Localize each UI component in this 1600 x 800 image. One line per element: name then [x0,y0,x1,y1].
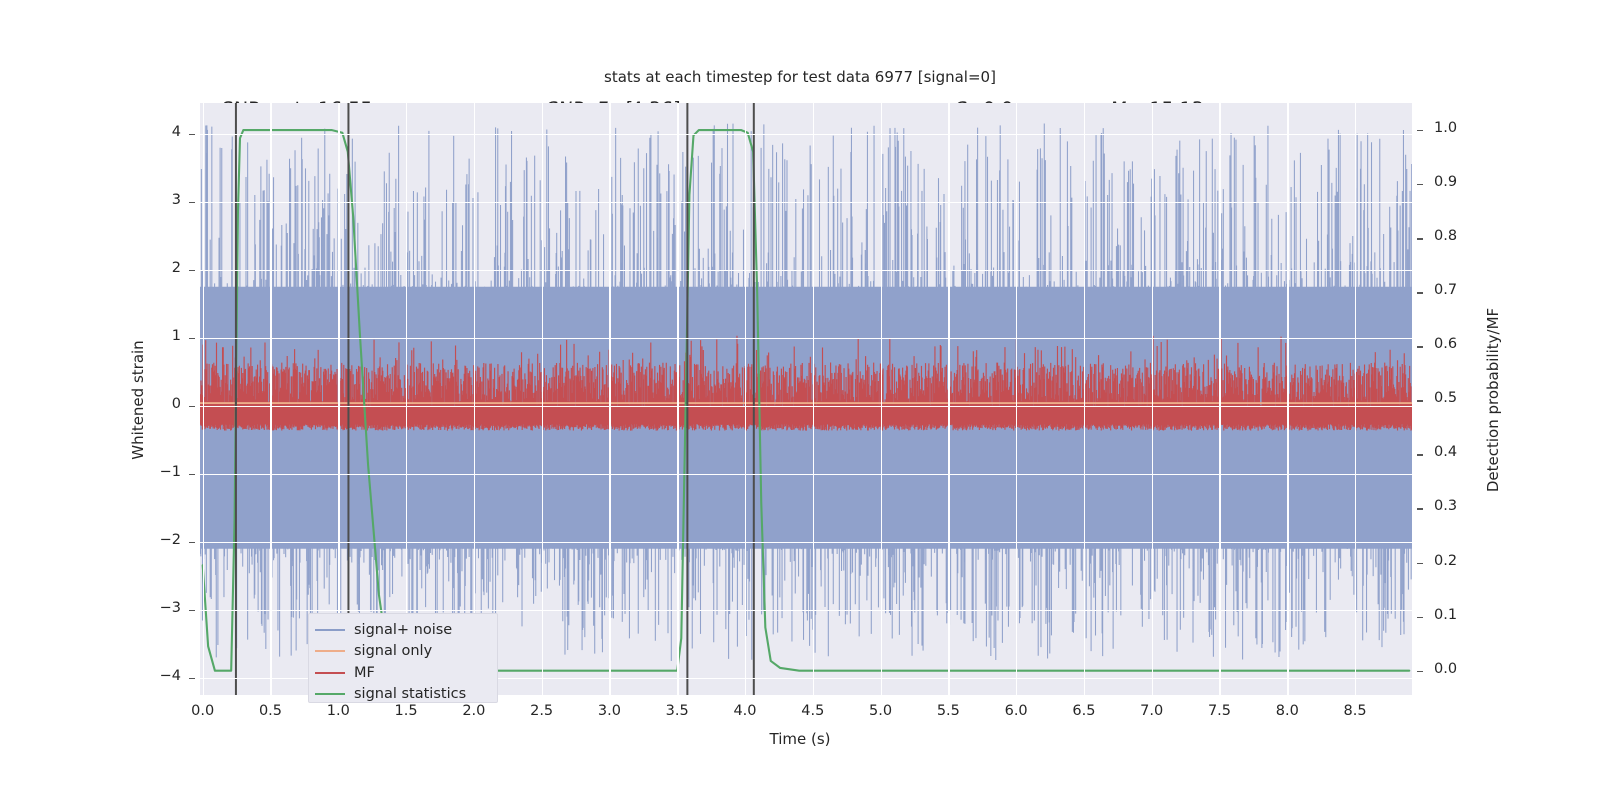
y-axis-left-tick-mark [189,270,195,271]
grid-line-vertical [203,103,204,695]
legend-swatch-2 [315,672,345,674]
x-axis-tick-label: 7.0 [1133,703,1171,719]
grid-line-vertical [1355,103,1356,695]
y-axis-right-tick-label: 0.2 [1434,553,1457,569]
y-axis-right-tick-mark [1417,130,1423,131]
y-axis-right-tick-label: 0.4 [1434,444,1457,460]
figure: stats at each timestep for test data 697… [0,0,1600,800]
y-axis-left-tick-label: −3 [155,600,181,616]
x-axis-tick-label: 2.0 [455,703,493,719]
grid-line-horizontal [200,134,1412,135]
y-axis-right-tick-label: 0.8 [1434,228,1457,244]
y-axis-left-tick-label: −4 [155,668,181,684]
y-axis-left-tick-label: −2 [155,532,181,548]
y-axis-right-tick-label: 0.3 [1434,498,1457,514]
grid-line-vertical [1016,103,1017,695]
grid-line-vertical [542,103,543,695]
grid-line-vertical [609,103,610,695]
grid-line-horizontal [200,202,1412,203]
y-axis-left-tick-label: 0 [155,396,181,412]
grid-line-vertical [406,103,407,695]
y-axis-right-tick-mark [1417,292,1423,293]
x-axis-tick-label: 8.0 [1268,703,1306,719]
x-axis-tick-label: 1.0 [319,703,357,719]
y-axis-left-tick-mark [189,134,195,135]
legend-swatch-1 [315,650,345,652]
x-axis-tick-label: 2.5 [523,703,561,719]
legend-item[interactable]: signal statistics [315,684,489,706]
plot-canvas [200,103,1412,695]
y-axis-right-tick-mark [1417,508,1423,509]
x-axis-tick-label: 5.0 [862,703,900,719]
legend-swatch-0 [315,629,345,631]
y-axis-left-tick-label: 4 [155,124,181,140]
x-axis-tick-label: 4.0 [726,703,764,719]
y-axis-right-tick-mark [1417,346,1423,347]
y-axis-right-label: Detection probability/MF [1484,308,1502,492]
y-axis-right-tick-mark [1417,400,1423,401]
legend-label: signal only [354,643,432,659]
grid-line-horizontal [200,270,1412,271]
grid-line-vertical [1084,103,1085,695]
grid-line-vertical [813,103,814,695]
y-axis-left-tick-label: 3 [155,192,181,208]
x-axis-tick-label: 8.5 [1336,703,1374,719]
x-axis-tick-label: 4.5 [794,703,832,719]
grid-line-vertical [677,103,678,695]
x-axis-tick-label: 6.5 [1065,703,1103,719]
x-axis-tick-label: 0.5 [251,703,289,719]
legend[interactable]: signal+ noisesignal onlyMFsignal statist… [308,613,498,703]
grid-line-horizontal [200,338,1412,339]
x-axis-tick-label: 7.5 [1200,703,1238,719]
y-axis-right-tick-mark [1417,184,1423,185]
legend-swatch-3 [315,693,345,695]
x-axis-tick-label: 5.5 [929,703,967,719]
grid-line-vertical [1287,103,1288,695]
y-axis-left-tick-mark [189,338,195,339]
grid-line-vertical [474,103,475,695]
y-axis-right-tick-mark [1417,563,1423,564]
y-axis-left-tick-mark [189,542,195,543]
y-axis-left-label: Whitened strain [129,340,147,459]
y-axis-right-tick-label: 0.6 [1434,336,1457,352]
y-axis-left-tick-mark [189,406,195,407]
y-axis-right-tick-label: 1.0 [1434,120,1457,136]
x-axis-tick-label: 3.5 [658,703,696,719]
y-axis-left-tick-mark [189,474,195,475]
grid-line-vertical [1152,103,1153,695]
y-axis-right-tick-label: 0.5 [1434,390,1457,406]
x-axis-tick-label: 1.5 [387,703,425,719]
grid-line-vertical [881,103,882,695]
y-axis-left-tick-label: 2 [155,260,181,276]
y-axis-right-tick-label: 0.0 [1434,661,1457,677]
y-axis-left-tick-mark [189,202,195,203]
y-axis-right-tick-label: 0.7 [1434,282,1457,298]
legend-label: MF [354,665,375,681]
grid-line-horizontal [200,542,1412,543]
legend-item[interactable]: signal+ noise [315,619,489,641]
x-axis-tick-label: 3.0 [590,703,628,719]
x-axis-tick-label: 0.0 [184,703,222,719]
x-axis-tick-label: 6.0 [997,703,1035,719]
plot-area [200,103,1412,695]
y-axis-right-tick-mark [1417,454,1423,455]
y-axis-right-tick-label: 0.9 [1434,174,1457,190]
grid-line-vertical [1219,103,1220,695]
y-axis-right-tick-label: 0.1 [1434,607,1457,623]
chart-title: stats at each timestep for test data 697… [0,68,1600,86]
legend-item[interactable]: signal only [315,641,489,663]
y-axis-left-tick-mark [189,610,195,611]
y-axis-left-tick-mark [189,678,195,679]
grid-line-vertical [338,103,339,695]
y-axis-left-tick-label: 1 [155,328,181,344]
legend-label: signal statistics [354,686,466,702]
grid-line-vertical [270,103,271,695]
y-axis-right-tick-mark [1417,617,1423,618]
grid-line-horizontal [200,474,1412,475]
legend-item[interactable]: MF [315,662,489,684]
grid-line-horizontal [200,610,1412,611]
y-axis-right-tick-mark [1417,238,1423,239]
grid-line-vertical [948,103,949,695]
grid-line-vertical [745,103,746,695]
grid-line-horizontal [200,406,1412,407]
y-axis-left-tick-label: −1 [155,464,181,480]
y-axis-right-tick-mark [1417,671,1423,672]
x-axis-label: Time (s) [0,730,1600,748]
legend-label: signal+ noise [354,622,452,638]
